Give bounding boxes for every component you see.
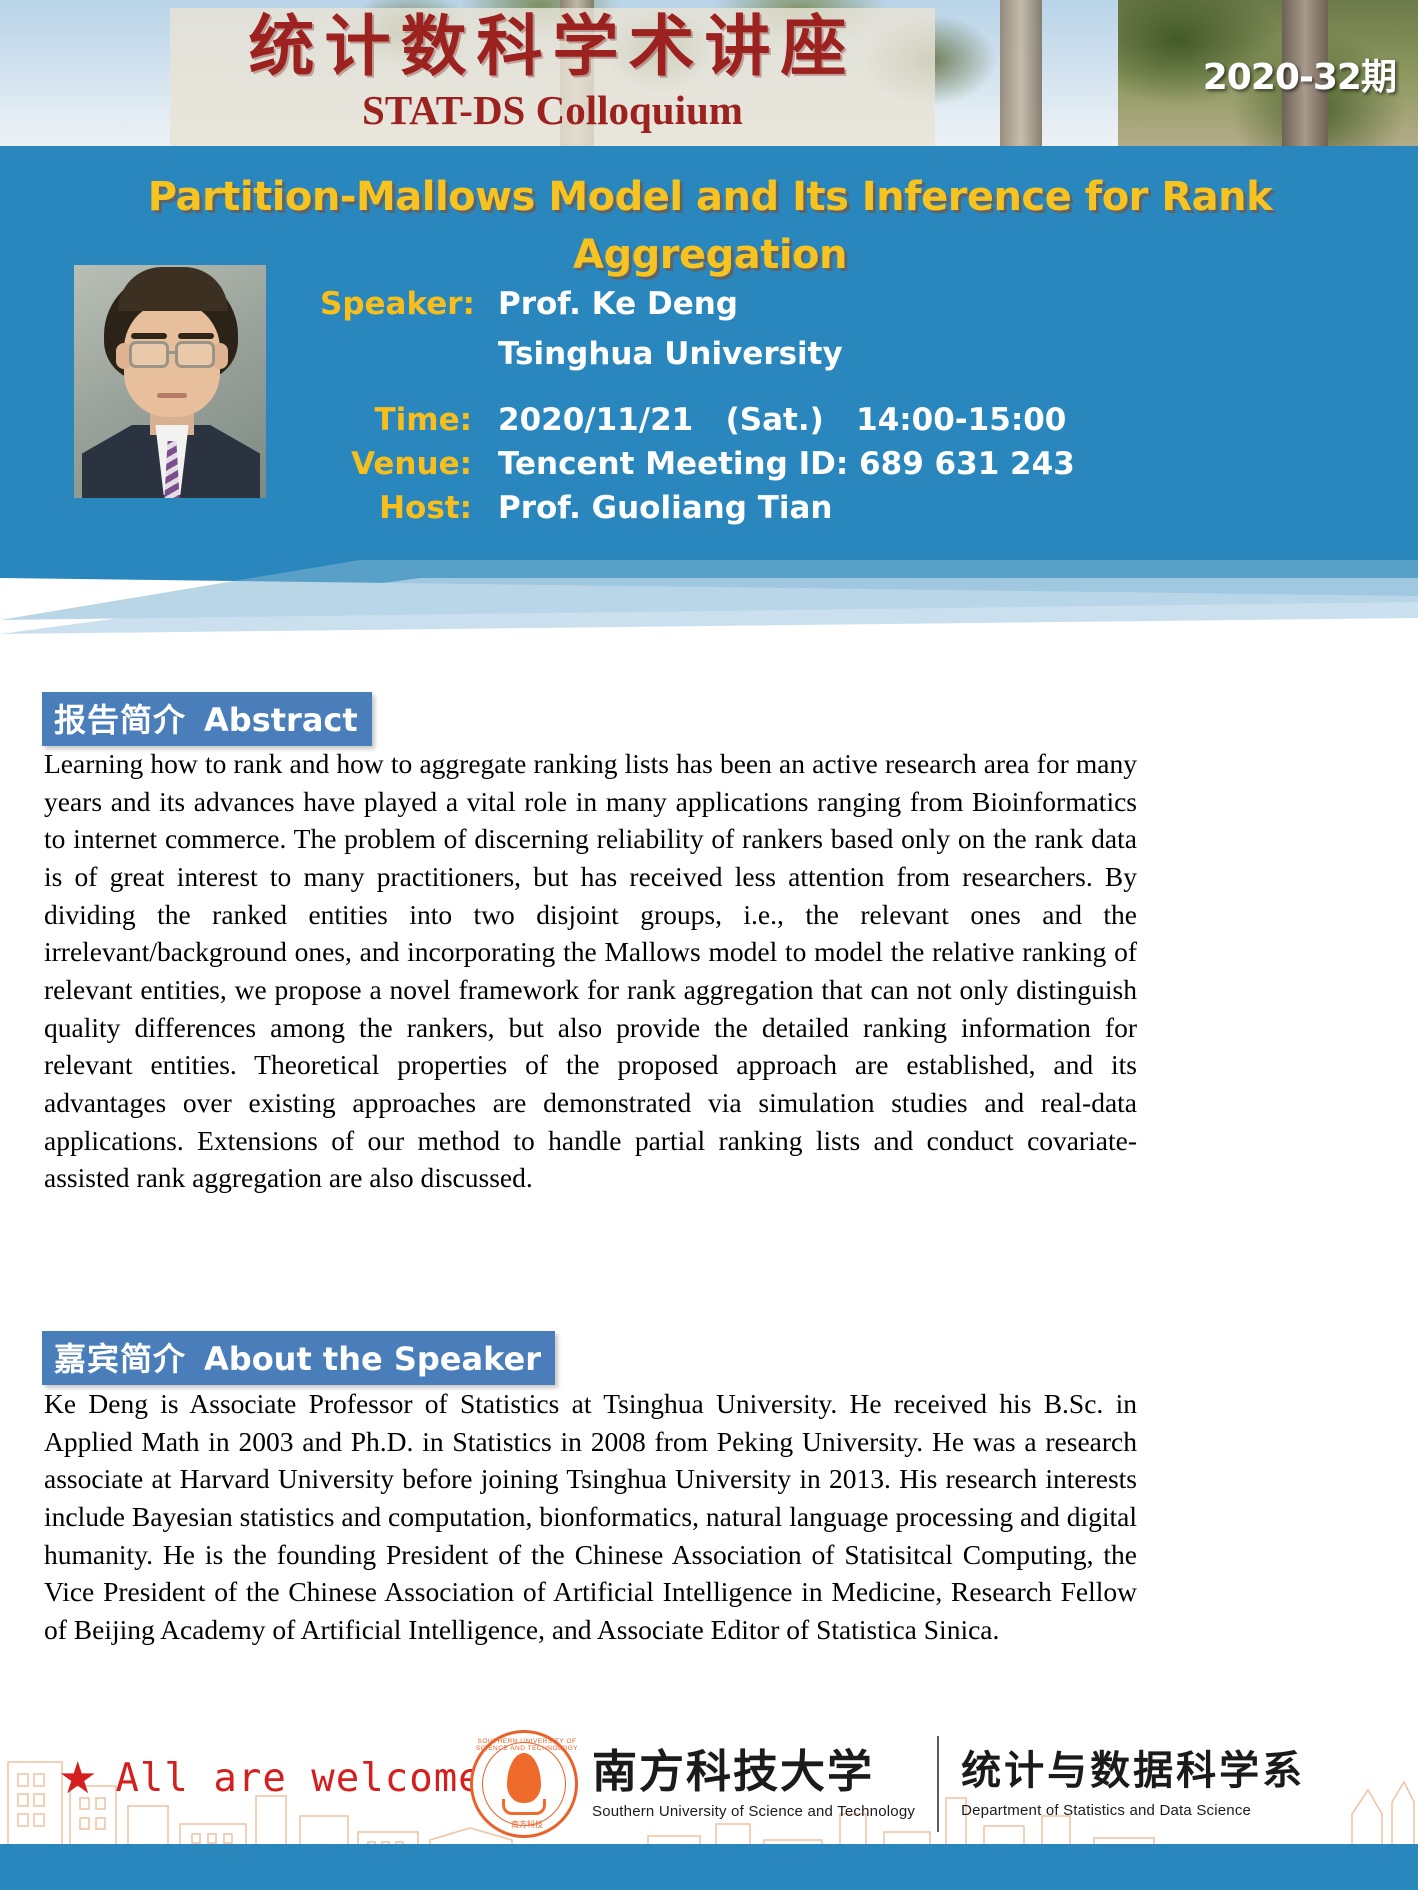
detail-row-host: Host: Prof. Guoliang Tian [320, 490, 1080, 526]
abstract-section-badge: 报告简介Abstract [42, 692, 372, 746]
header-banner: 统计数科学术讲座 STAT-DS Colloquium 2020-32期 [0, 0, 1418, 152]
university-name-cn: 南方科技大学 [592, 1748, 915, 1795]
detail-row-time: Time: 2020/11/21 (Sat.) 14:00-15:00 [320, 402, 1080, 438]
talk-details: Speaker: Prof. Ke Deng Tsinghua Universi… [320, 286, 1080, 526]
speaker-body: Ke Deng is Associate Professor of Statis… [44, 1385, 1137, 1649]
seal-text-bottom: 南方科技 [473, 1819, 581, 1830]
header-title-en: STAT-DS Colloquium [170, 88, 935, 133]
abstract-badge-cn: 报告简介 [54, 701, 186, 739]
university-name-block: 南方科技大学 Southern University of Science an… [592, 1748, 915, 1820]
welcome-text: All are welcome [115, 1756, 482, 1801]
department-name-en: Department of Statistics and Data Scienc… [961, 1802, 1305, 1819]
speaker-section-badge: 嘉宾简介About the Speaker [42, 1331, 555, 1385]
speaker-name: Prof. Ke Deng [498, 286, 738, 322]
host-value: Prof. Guoliang Tian [498, 490, 832, 526]
info-panel: Partition-Mallows Model and Its Inferenc… [0, 146, 1418, 596]
detail-row-speaker: Speaker: Prof. Ke Deng [320, 286, 1080, 322]
department-name-cn: 统计与数据科学系 [961, 1750, 1305, 1792]
speaker-photo [74, 265, 266, 498]
speaker-label: Speaker: [320, 286, 498, 322]
seminar-poster: 统计数科学术讲座 STAT-DS Colloquium 2020-32期 Par… [0, 0, 1418, 1890]
logo-divider [937, 1736, 939, 1832]
venue-label: Venue: [320, 446, 498, 482]
speaker-affiliation: Tsinghua University [498, 336, 843, 372]
abstract-badge-en: Abstract [204, 701, 358, 739]
palm-trunk-mid [1000, 0, 1042, 152]
abstract-body: Learning how to rank and how to aggregat… [44, 745, 1137, 1197]
speaker-badge-en: About the Speaker [204, 1340, 541, 1378]
sustech-seal-icon: SOUTHERN UNIVERSITY OF SCIENCE AND TECHN… [470, 1730, 578, 1838]
speaker-badge-cn: 嘉宾简介 [54, 1340, 186, 1378]
issue-number: 2020-32期 [1203, 48, 1396, 100]
host-label: Host: [320, 490, 498, 526]
detail-row-affiliation: Tsinghua University [320, 336, 1080, 372]
time-label: Time: [320, 402, 498, 438]
welcome-message: ★ All are welcome ★ [58, 1756, 540, 1801]
star-icon-left: ★ [58, 1757, 97, 1801]
time-value: 2020/11/21 (Sat.) 14:00-15:00 [498, 402, 1066, 438]
university-name-en: Southern University of Science and Techn… [592, 1803, 915, 1820]
footer: ★ All are welcome ★ SOUTHERN UNIVERSITY … [0, 1718, 1418, 1890]
detail-row-venue: Venue: Tencent Meeting ID: 689 631 243 [320, 446, 1080, 482]
department-name-block: 统计与数据科学系 Department of Statistics and Da… [961, 1750, 1305, 1819]
bottom-bar [0, 1844, 1418, 1890]
header-title-cn: 统计数科学术讲座 [170, 12, 935, 81]
institution-logo-group: SOUTHERN UNIVERSITY OF SCIENCE AND TECHN… [470, 1730, 1305, 1838]
seal-text-top: SOUTHERN UNIVERSITY OF SCIENCE AND TECHN… [473, 1738, 581, 1752]
venue-value: Tencent Meeting ID: 689 631 243 [498, 446, 1075, 482]
